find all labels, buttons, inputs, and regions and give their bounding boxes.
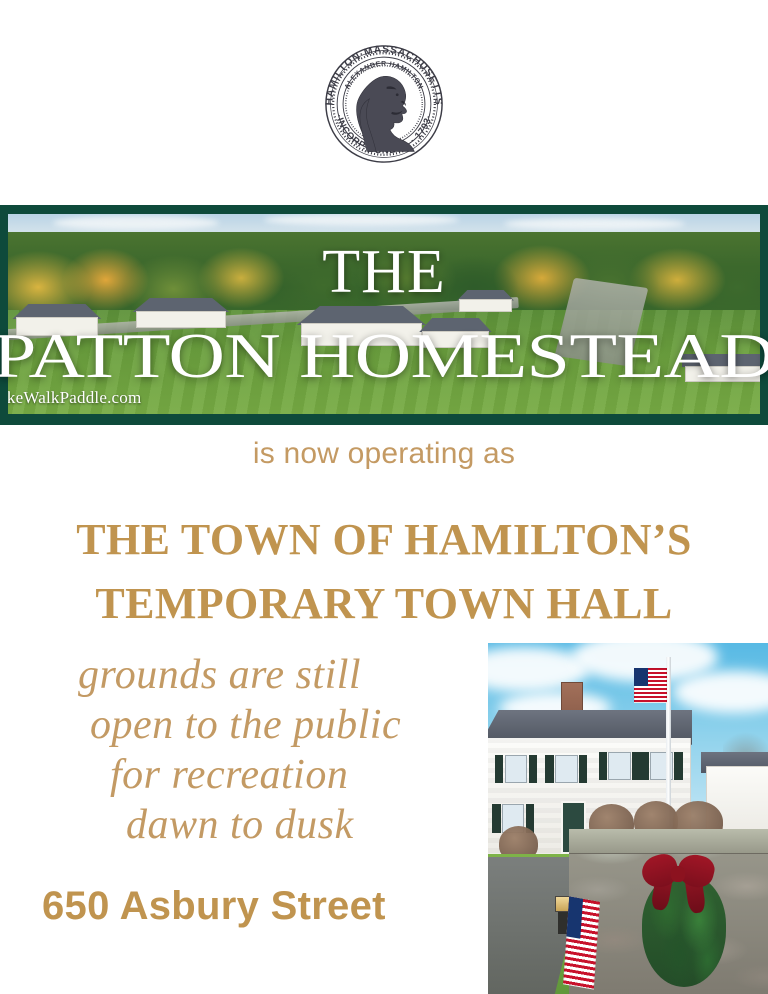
photo-flag-canton <box>634 668 649 686</box>
photo-bow-knot <box>671 866 685 882</box>
address-text: 650 Asbury Street <box>42 884 386 929</box>
hero-banner: ikeWalkPaddle.com THE PATTON HOMESTEAD <box>0 205 768 425</box>
photo-window <box>608 752 630 780</box>
photo-watermark: ikeWalkPaddle.com <box>8 388 141 408</box>
subhead-text: is now operating as <box>0 437 768 471</box>
photo-window <box>555 755 577 783</box>
headline-line-2: TEMPORARY TOWN HALL <box>0 572 768 636</box>
banner-cloud <box>504 218 684 230</box>
hero-title-name: PATTON HOMESTEAD <box>0 325 768 388</box>
photo-shutter <box>495 755 503 783</box>
headline: THE TOWN OF HAMILTON’S TEMPORARY TOWN HA… <box>0 508 768 636</box>
town-hall-photo <box>488 643 768 994</box>
photo-shutter <box>579 755 587 783</box>
photo-shutter <box>492 804 500 832</box>
seal-header: ·HAMILTON·MASSACHUSETTS· ALEXANDER HAMIL… <box>0 0 768 200</box>
photo-us-flag <box>634 668 668 703</box>
town-seal-icon: ·HAMILTON·MASSACHUSETTS· ALEXANDER HAMIL… <box>318 38 450 170</box>
script-message: grounds are still open to the public for… <box>0 650 470 850</box>
banner-cloud <box>53 216 218 230</box>
photo-window <box>505 755 527 783</box>
photo-shutter <box>641 752 649 780</box>
photo-shutter <box>674 752 682 780</box>
photo-shutter <box>599 752 607 780</box>
headline-line-1: THE TOWN OF HAMILTON’S <box>0 508 768 572</box>
banner-cloud <box>264 214 460 226</box>
photo-small-flag-canton <box>567 897 584 940</box>
photo-stone-wall-cap <box>569 829 768 854</box>
photo-shutter <box>632 752 640 780</box>
script-line: grounds are still <box>0 650 470 700</box>
script-line: open to the public <box>0 700 470 750</box>
script-line: dawn to dusk <box>0 800 470 850</box>
script-line: for recreation <box>0 750 470 800</box>
photo-shutter <box>529 755 537 783</box>
hero-title-the: THE <box>0 241 768 303</box>
photo-shutter <box>545 755 553 783</box>
